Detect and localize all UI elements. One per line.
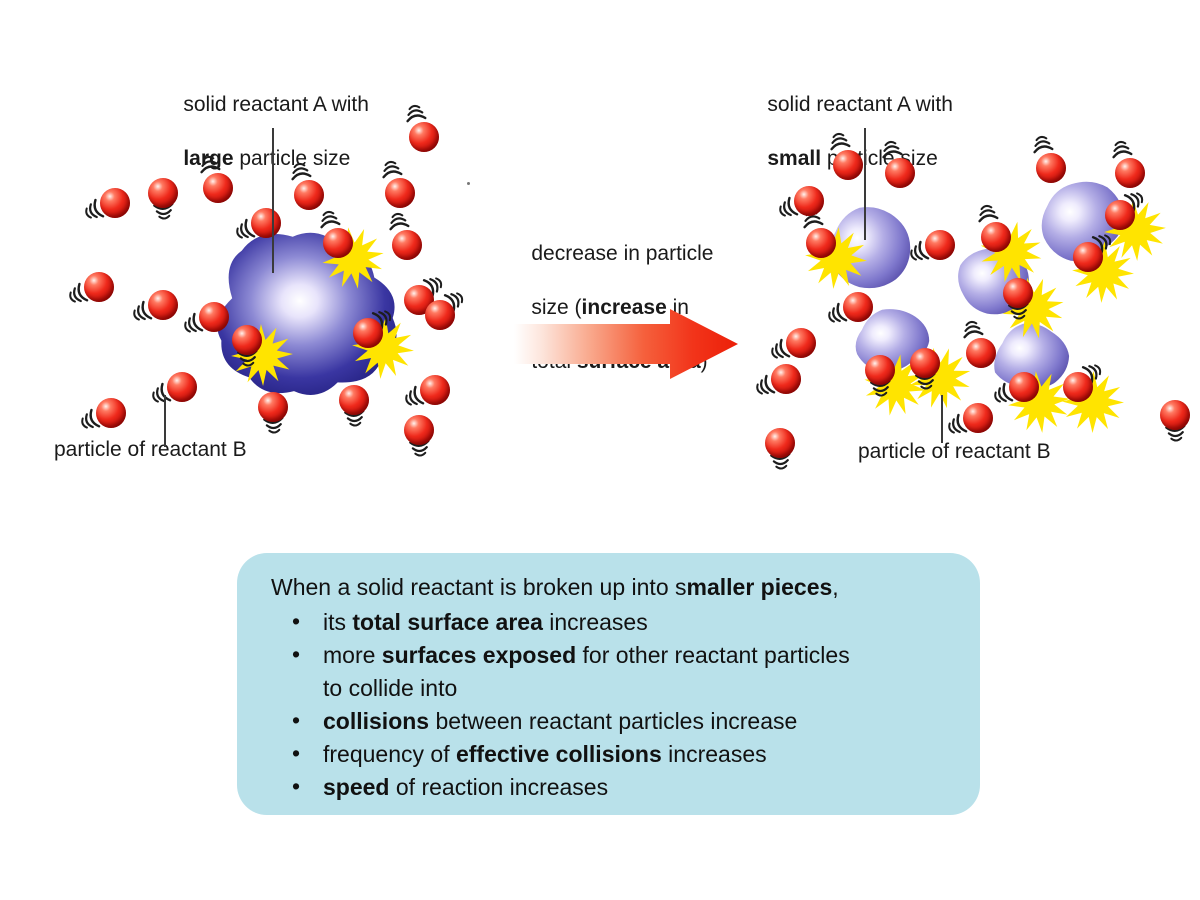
reactant-b-particle [1009, 372, 1039, 402]
bullet-text-pre: frequency of [323, 741, 456, 767]
summary-bullet: •frequency of effective collisions incre… [267, 738, 954, 771]
summary-intro: When a solid reactant is broken up into … [271, 571, 954, 604]
bullet-text-pre: more [323, 642, 382, 668]
bullet-marker: • [292, 737, 300, 770]
reactant-b-particle [148, 290, 178, 320]
reactant-b-particle [232, 325, 262, 355]
left-callout-label: particle of reactant B [54, 436, 247, 463]
small-solid-reactant-a-1 [828, 208, 910, 286]
summary-bullet: •speed of reaction increases [267, 771, 954, 804]
summary-bullet: •more surfaces exposed for other reactan… [267, 639, 954, 705]
right-title-line1: solid reactant A with [767, 93, 953, 116]
bullet-emphasis: total surface area [352, 609, 542, 635]
reactant-b-particle [353, 318, 383, 348]
reactant-b-particle [251, 208, 281, 238]
summary-bullet: •collisions between reactant particles i… [267, 705, 954, 738]
bullet-text-post: increases [543, 609, 648, 635]
right-title-emphasis: small [767, 147, 821, 170]
bullet-text-pre: its [323, 609, 352, 635]
left-title-leader-line [272, 128, 274, 273]
reactant-b-particle [910, 348, 940, 378]
reactant-b-particle [1105, 200, 1135, 230]
reactant-b-particle [966, 338, 996, 368]
stray-speck [467, 182, 470, 185]
bullet-emphasis: speed [323, 774, 389, 800]
reactant-b-particle [925, 230, 955, 260]
bullet-marker: • [292, 638, 300, 671]
reactant-b-particle [100, 188, 130, 218]
process-arrow [512, 308, 740, 385]
reactant-b-particle [392, 230, 422, 260]
reactant-b-particle [1063, 372, 1093, 402]
reactant-b-particle [963, 403, 993, 433]
right-callout-leader-line [941, 395, 943, 443]
reactant-b-particle [420, 375, 450, 405]
left-title-emphasis: large [183, 147, 233, 170]
summary-bullet: •its total surface area increases [267, 606, 954, 639]
reactant-b-particle [786, 328, 816, 358]
summary-box: When a solid reactant is broken up into … [237, 553, 980, 815]
reactant-b-particle [404, 415, 434, 445]
left-title-line1: solid reactant A with [183, 93, 369, 116]
bullet-text-post: between reactant particles increase [429, 708, 797, 734]
diagram-canvas: solid reactant A with large particle siz… [0, 0, 1200, 900]
bullet-emphasis: effective collisions [456, 741, 662, 767]
reactant-b-particle [167, 372, 197, 402]
reactant-b-particle [885, 158, 915, 188]
reactant-b-particle [843, 292, 873, 322]
reactant-b-particle [203, 173, 233, 203]
reactant-b-particle [765, 428, 795, 458]
reactant-b-particle [1036, 153, 1066, 183]
summary-intro-emphasis: maller pieces [687, 574, 833, 600]
summary-intro-post: , [832, 574, 838, 600]
bullet-text-post: of reaction increases [389, 774, 608, 800]
reactant-b-particle [148, 178, 178, 208]
reactant-b-particle [794, 186, 824, 216]
reactant-b-particle [425, 300, 455, 330]
reactant-b-particle [409, 122, 439, 152]
bullet-marker: • [292, 704, 300, 737]
reactant-b-particle [84, 272, 114, 302]
reactant-b-particle [865, 355, 895, 385]
reactant-b-particle [1160, 400, 1190, 430]
left-title-line2-rest: particle size [234, 147, 351, 170]
reactant-b-particle [1003, 278, 1033, 308]
reactant-b-particle [981, 222, 1011, 252]
reactant-b-particle [96, 398, 126, 428]
bullet-marker: • [292, 770, 300, 803]
bullet-emphasis: collisions [323, 708, 429, 734]
reactant-b-particle [294, 180, 324, 210]
reactant-b-particle [806, 228, 836, 258]
bullet-text-post: increases [662, 741, 767, 767]
reactant-b-particle [385, 178, 415, 208]
left-panel-title: solid reactant A with large particle siz… [160, 64, 369, 199]
bullet-marker: • [292, 605, 300, 638]
left-callout-leader-line [164, 395, 166, 447]
reactant-b-particle [258, 392, 288, 422]
reactant-b-particle [1073, 242, 1103, 272]
reactant-b-particle [771, 364, 801, 394]
bullet-emphasis: surfaces exposed [382, 642, 576, 668]
summary-bullet-list: •its total surface area increases•more s… [267, 606, 954, 804]
reactant-b-particle [323, 228, 353, 258]
reactant-b-particle [1115, 158, 1145, 188]
right-callout-label: particle of reactant B [858, 438, 1051, 465]
reactant-b-particle [833, 150, 863, 180]
reactant-b-particle [199, 302, 229, 332]
right-title-leader-line [864, 128, 866, 240]
summary-intro-pre: When a solid reactant is broken up into … [271, 574, 687, 600]
center-caption-line1: decrease in particle [531, 242, 713, 265]
reactant-b-particle [339, 385, 369, 415]
